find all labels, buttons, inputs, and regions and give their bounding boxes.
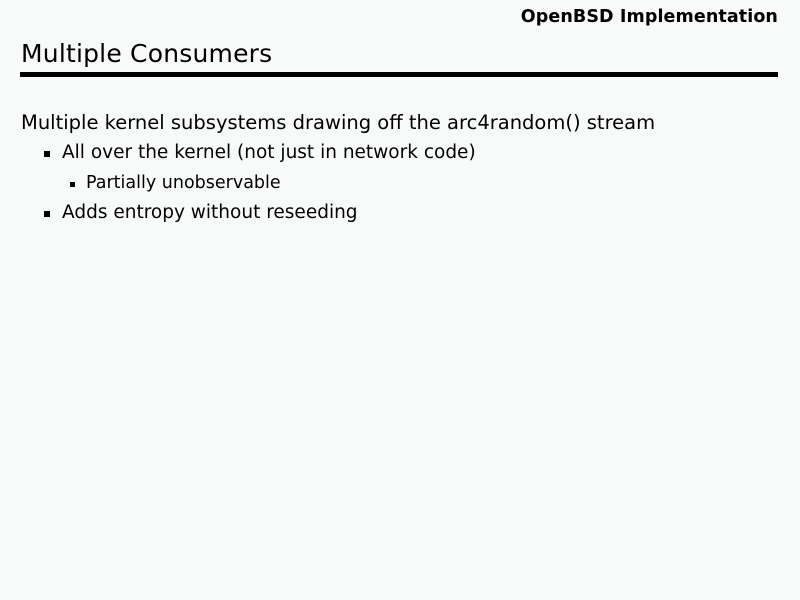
title-divider xyxy=(20,72,778,77)
bullet-item-text: All over the kernel (not just in network… xyxy=(62,142,476,163)
slide-body: Multiple kernel subsystems drawing off t… xyxy=(0,108,800,228)
bullet-square-icon xyxy=(44,151,50,157)
body-line: Multiple kernel subsystems drawing off t… xyxy=(21,108,800,138)
sub-bullet-item-text: Partially unobservable xyxy=(86,173,281,193)
body-line-text: Multiple kernel subsystems drawing off t… xyxy=(21,111,655,134)
bullet-item: Adds entropy without reseeding xyxy=(44,198,800,228)
bullet-square-icon xyxy=(44,211,50,217)
slide: OpenBSD Implementation Multiple Consumer… xyxy=(0,0,800,600)
running-header: OpenBSD Implementation xyxy=(38,6,778,28)
bullet-square-small-icon xyxy=(70,182,75,187)
bullet-item: All over the kernel (not just in network… xyxy=(44,138,800,168)
page-title: Multiple Consumers xyxy=(21,38,272,69)
sub-bullet-item: Partially unobservable xyxy=(70,168,800,198)
bullet-item-text: Adds entropy without reseeding xyxy=(62,202,358,223)
